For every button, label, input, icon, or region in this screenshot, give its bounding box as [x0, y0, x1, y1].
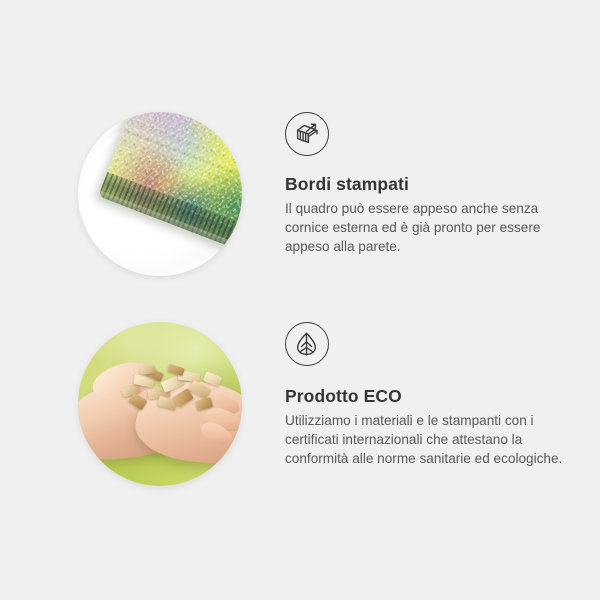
- leaf-eco-icon: [285, 322, 329, 366]
- wood-chip-pile: [118, 366, 222, 418]
- feature-title: Bordi stampati: [285, 174, 575, 195]
- canvas-photo-background: [78, 112, 242, 276]
- feature-text-printed-edges: Bordi stampati Il quadro può essere appe…: [285, 112, 575, 256]
- feature-description: Il quadro può essere appeso anche senza …: [285, 199, 565, 256]
- printed-edges-icon: [285, 112, 329, 156]
- product-features-panel: Bordi stampati Il quadro può essere appe…: [0, 0, 600, 600]
- hands-holding-wood-chips-photo: [78, 322, 242, 486]
- canvas-print-corner-photo: [78, 112, 242, 276]
- eco-photo-grass-background: [78, 322, 242, 486]
- feature-text-eco-product: Prodotto ECO Utilizziamo i materiali e l…: [285, 322, 575, 468]
- feature-description: Utilizziamo i materiali e le stampanti c…: [285, 411, 565, 468]
- feature-title: Prodotto ECO: [285, 386, 575, 407]
